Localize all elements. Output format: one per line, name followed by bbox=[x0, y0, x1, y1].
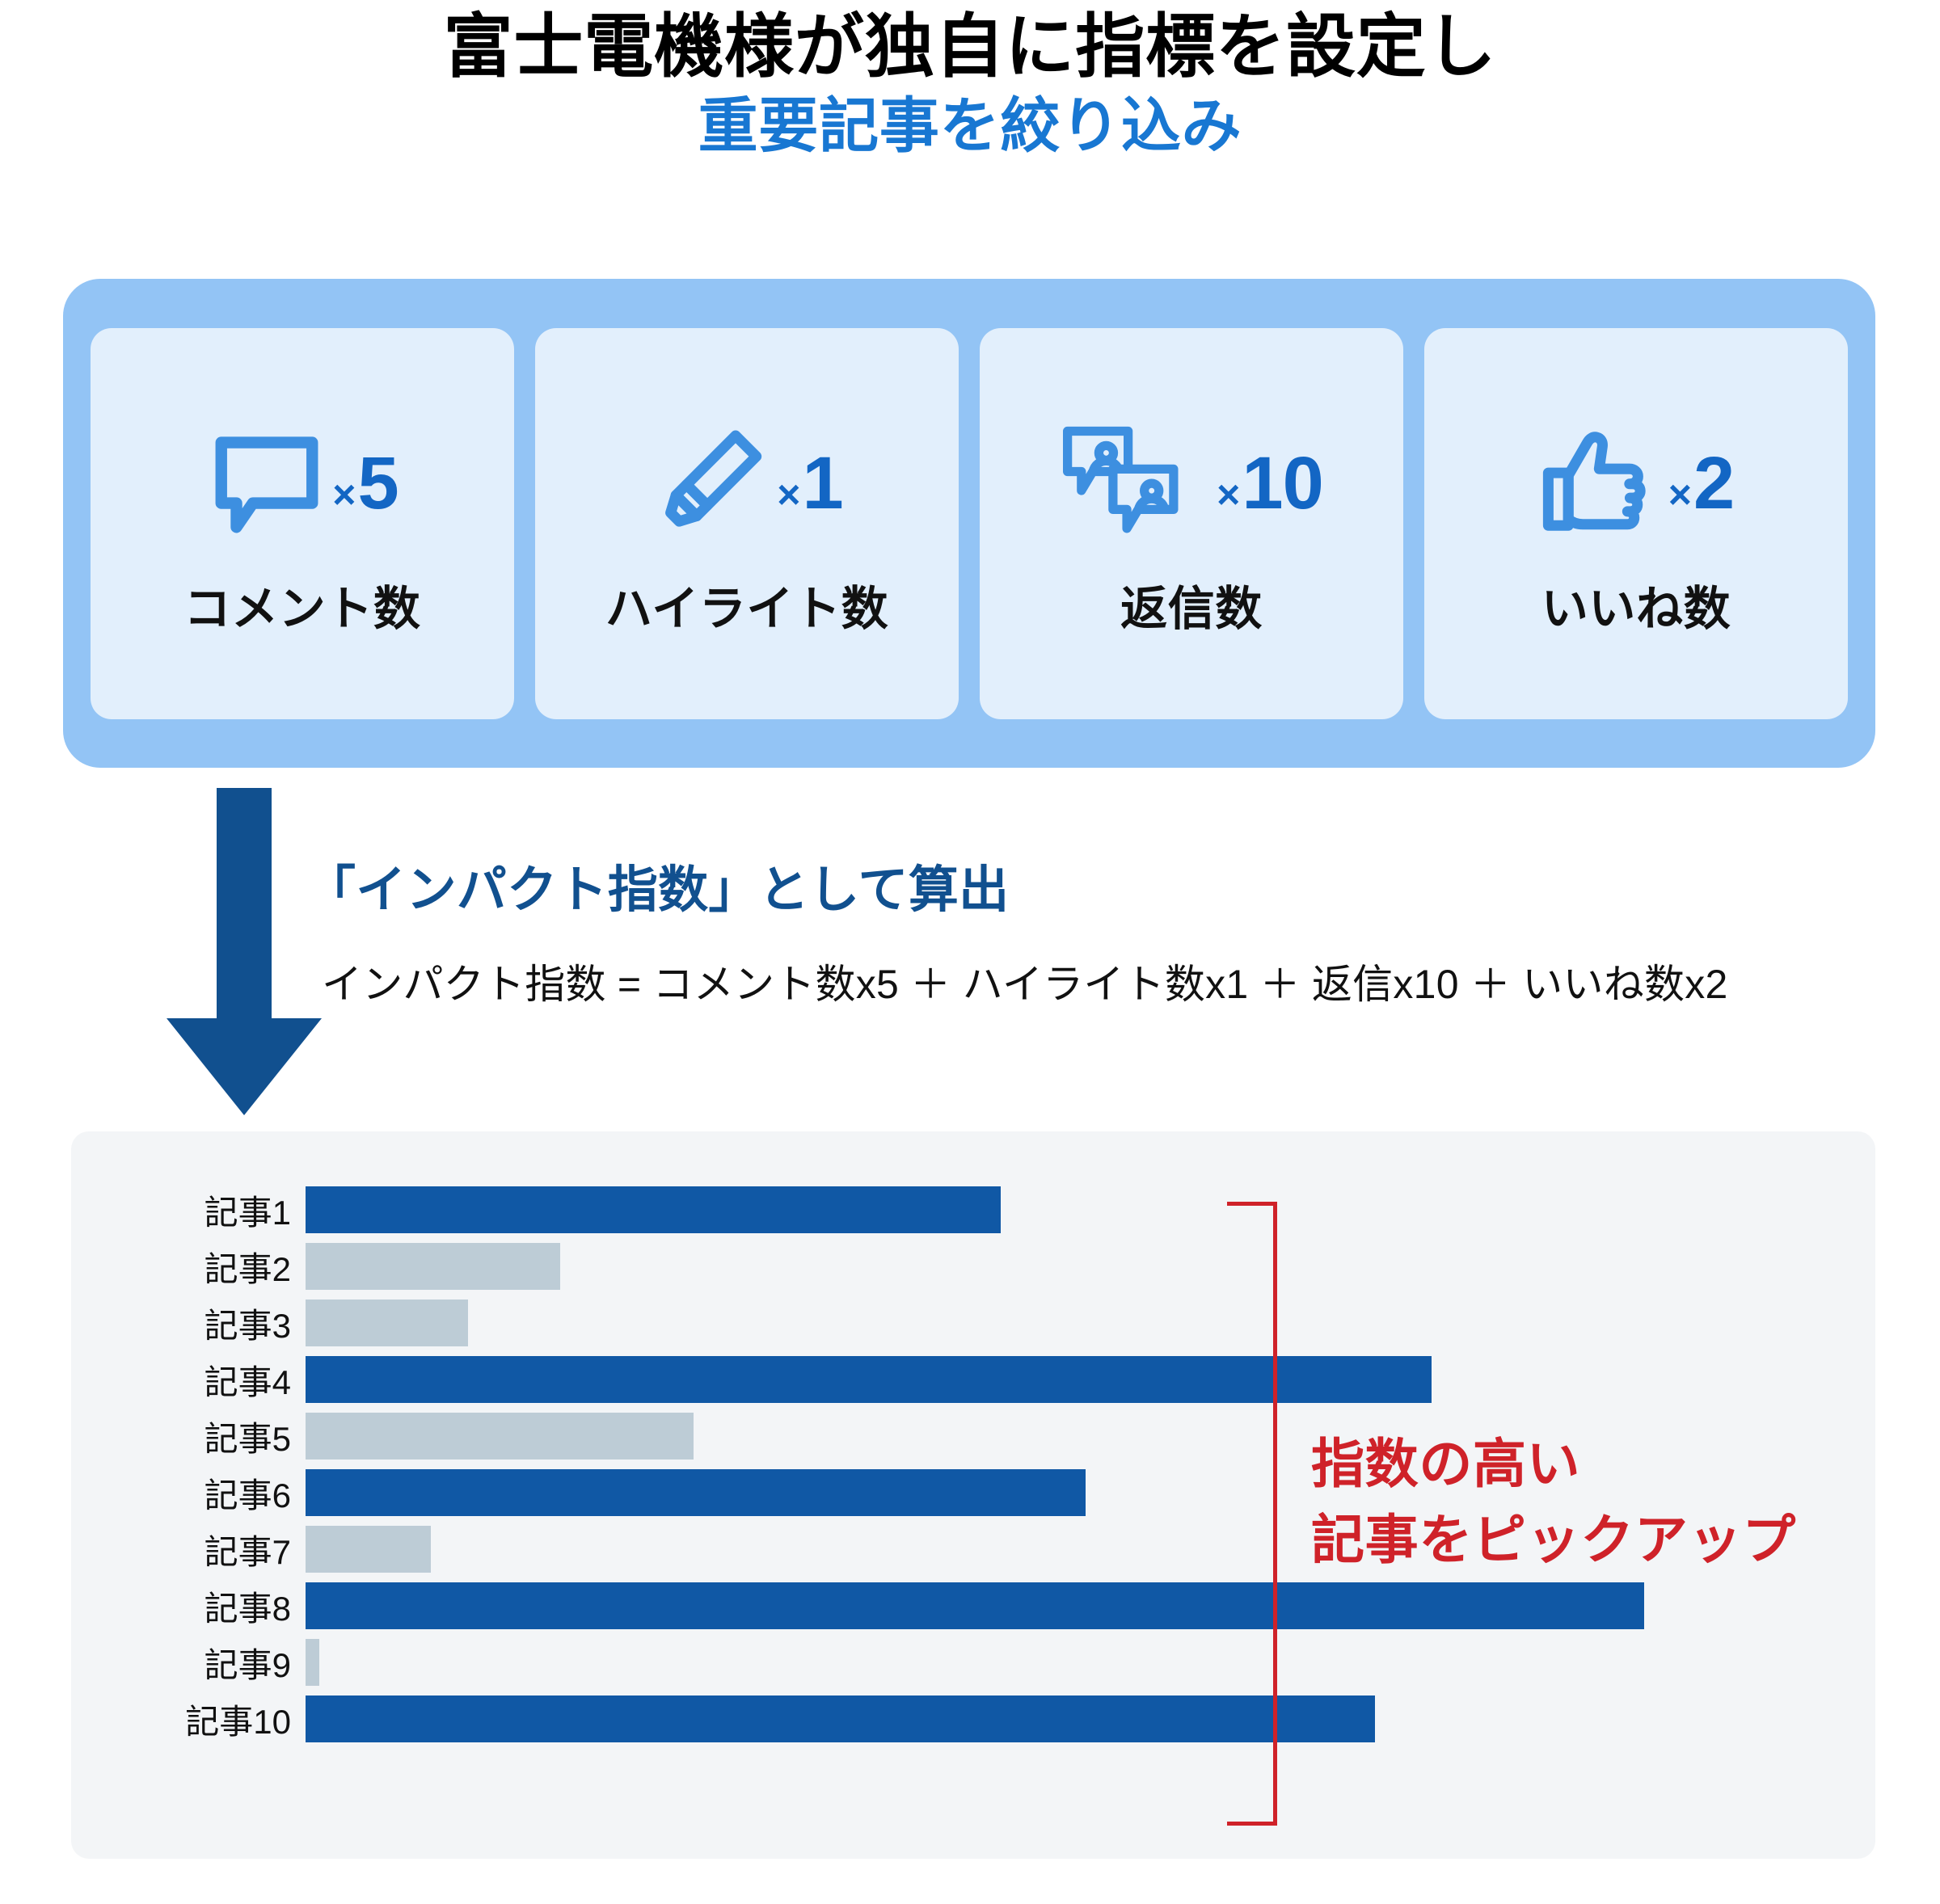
chart-bar bbox=[306, 1582, 1644, 1629]
chart-row-label: 記事4 bbox=[160, 1355, 306, 1405]
metric-card-replies-top: × 10 bbox=[1060, 409, 1323, 559]
infographic-page: 富士電機様が独自に指標を設定し 重要記事を絞り込み × 5 コメント数 bbox=[0, 0, 1940, 1904]
metrics-band: × 5 コメント数 × bbox=[63, 279, 1875, 768]
chart-bar bbox=[306, 1639, 319, 1686]
pickup-note-line-2: 記事をピックアップ bbox=[1311, 1502, 1796, 1578]
chart-row: 記事1 bbox=[160, 1182, 1696, 1238]
chart-bar-track bbox=[306, 1295, 1696, 1351]
metric-card-likes-label: いいね数 bbox=[1541, 571, 1731, 638]
metric-card-highlights-multiplier: × 1 bbox=[777, 441, 842, 526]
title-line-2: 重要記事を絞り込み bbox=[0, 88, 1940, 165]
title-line-1: 富士電機様が独自に指標を設定し bbox=[0, 6, 1940, 88]
chart-row: 記事3 bbox=[160, 1295, 1696, 1351]
metric-card-replies-label: 返信数 bbox=[1120, 571, 1263, 638]
chart-bar-track bbox=[306, 1691, 1696, 1747]
chart-row: 記事2 bbox=[160, 1238, 1696, 1295]
multiplier-value: 5 bbox=[357, 441, 398, 526]
chart-bar bbox=[306, 1243, 560, 1290]
multiplier-value: 2 bbox=[1693, 441, 1734, 526]
multiply-symbol: × bbox=[777, 471, 800, 518]
chart-row-label: 記事1 bbox=[160, 1186, 306, 1235]
chart-bar bbox=[306, 1186, 1001, 1233]
pickup-bracket bbox=[1227, 1202, 1277, 1826]
chart-bar bbox=[306, 1526, 431, 1573]
down-arrow-icon bbox=[167, 788, 322, 1115]
chart-bar-track bbox=[306, 1578, 1696, 1634]
pickup-note-line-1: 指数の高い bbox=[1311, 1426, 1796, 1502]
chart-row-label: 記事10 bbox=[160, 1695, 306, 1744]
multiply-symbol: × bbox=[1217, 471, 1240, 518]
double-reply-bubble-icon bbox=[1060, 421, 1212, 546]
chart-row: 記事4 bbox=[160, 1351, 1696, 1408]
metric-card-highlights-top: × 1 bbox=[651, 409, 842, 559]
metric-card-comments-label: コメント数 bbox=[184, 571, 421, 638]
chart-bar-track bbox=[306, 1351, 1696, 1408]
metric-card-replies-multiplier: × 10 bbox=[1217, 441, 1323, 526]
chart-row-label: 記事7 bbox=[160, 1525, 306, 1574]
chart-bar bbox=[306, 1695, 1375, 1742]
metric-card-comments-top: × 5 bbox=[206, 409, 398, 559]
metric-card-likes[interactable]: × 2 いいね数 bbox=[1424, 328, 1848, 719]
chart-row: 記事9 bbox=[160, 1634, 1696, 1691]
chart-bar bbox=[306, 1413, 694, 1460]
speech-bubble-icon bbox=[206, 421, 327, 546]
page-title: 富士電機様が独自に指標を設定し 重要記事を絞り込み bbox=[0, 6, 1940, 165]
chart-row: 記事8 bbox=[160, 1578, 1696, 1634]
chart-bar-track bbox=[306, 1238, 1696, 1295]
chart-row-label: 記事6 bbox=[160, 1468, 306, 1518]
multiply-symbol: × bbox=[332, 471, 356, 518]
multiplier-value: 1 bbox=[802, 441, 842, 526]
chart-bar bbox=[306, 1469, 1086, 1516]
metric-card-replies[interactable]: × 10 返信数 bbox=[980, 328, 1403, 719]
chart-row-label: 記事2 bbox=[160, 1242, 306, 1291]
calculation-heading: 「インパクト指数」として算出 bbox=[306, 849, 1009, 921]
multiply-symbol: × bbox=[1668, 471, 1692, 518]
chart-row-label: 記事9 bbox=[160, 1638, 306, 1687]
chart-bar bbox=[306, 1300, 468, 1346]
chart-row-label: 記事3 bbox=[160, 1299, 306, 1348]
metric-card-likes-top: × 2 bbox=[1538, 409, 1734, 559]
chart-row: 記事10 bbox=[160, 1691, 1696, 1747]
metric-card-comments[interactable]: × 5 コメント数 bbox=[91, 328, 514, 719]
chart-bar-track bbox=[306, 1182, 1696, 1238]
impact-score-formula: インパクト指数 = コメント数x5 ＋ ハイライト数x1 ＋ 返信x10 ＋ い… bbox=[322, 952, 1728, 1010]
metric-card-highlights[interactable]: × 1 ハイライト数 bbox=[535, 328, 959, 719]
multiplier-value: 10 bbox=[1242, 441, 1323, 526]
metric-card-comments-multiplier: × 5 bbox=[332, 441, 398, 526]
chart-bar-track bbox=[306, 1634, 1696, 1691]
pickup-note: 指数の高い 記事をピックアップ bbox=[1311, 1426, 1796, 1578]
chart-row-label: 記事8 bbox=[160, 1582, 306, 1631]
metric-card-highlights-label: ハイライト数 bbox=[605, 571, 888, 638]
metric-card-likes-multiplier: × 2 bbox=[1668, 441, 1734, 526]
chart-row-label: 記事5 bbox=[160, 1412, 306, 1461]
thumbs-up-icon bbox=[1538, 421, 1664, 546]
highlighter-pen-icon bbox=[651, 421, 772, 546]
